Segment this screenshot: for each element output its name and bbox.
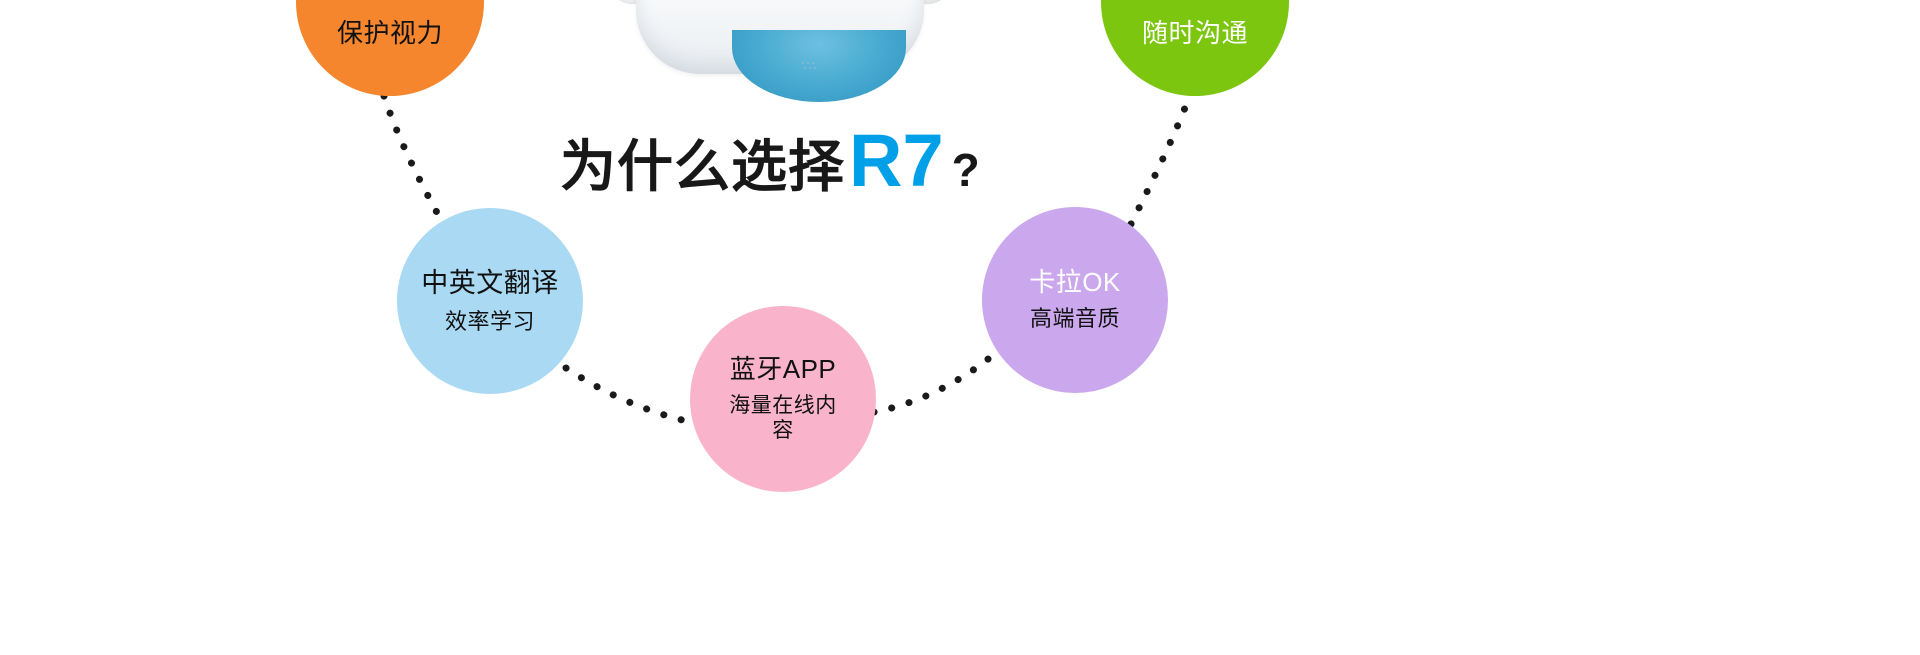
robot-tablet-device: 艺术培养 动画片 听一听 网络世界 bbox=[600, 0, 960, 90]
bubble-title: 保护视力 bbox=[337, 19, 443, 48]
bubble-karaoke[interactable]: 卡拉OK 高端音质 bbox=[982, 207, 1168, 393]
bubble-title: 中英文翻译 bbox=[421, 268, 559, 298]
title-model-r7: R7 bbox=[849, 128, 944, 195]
bubble-title: 随时沟通 bbox=[1142, 19, 1248, 48]
title-question-mark: ? bbox=[952, 143, 980, 197]
speaker-grille bbox=[802, 62, 820, 71]
bubble-subtitle: 海量在线内容 bbox=[723, 394, 843, 444]
page-title: 为什么选择 R7 ? bbox=[560, 122, 1080, 203]
connector-eye-to-translate bbox=[384, 96, 447, 231]
title-text-cn: 为什么选择 bbox=[560, 122, 845, 203]
connector-karaoke-to-talk bbox=[1131, 100, 1188, 224]
bubble-translation[interactable]: 中英文翻译 效率学习 bbox=[397, 208, 583, 394]
infographic-canvas: 艺术培养 动画片 听一听 网络世界 bbox=[0, 0, 1920, 655]
bubble-title: 蓝牙APP bbox=[730, 355, 837, 384]
device-body: 艺术培养 动画片 听一听 网络世界 bbox=[636, 0, 924, 74]
bubble-title: 卡拉OK bbox=[1029, 268, 1121, 297]
connector-bluetooth-to-karaoke bbox=[874, 355, 993, 412]
bubble-bluetooth-app[interactable]: 蓝牙APP 海量在线内容 bbox=[690, 306, 876, 492]
bubble-subtitle: 效率学习 bbox=[445, 310, 535, 335]
bubble-subtitle: 高端音质 bbox=[1030, 307, 1120, 332]
connector-lines bbox=[0, 0, 1920, 655]
connector-translate-to-bluetooth bbox=[566, 368, 705, 425]
